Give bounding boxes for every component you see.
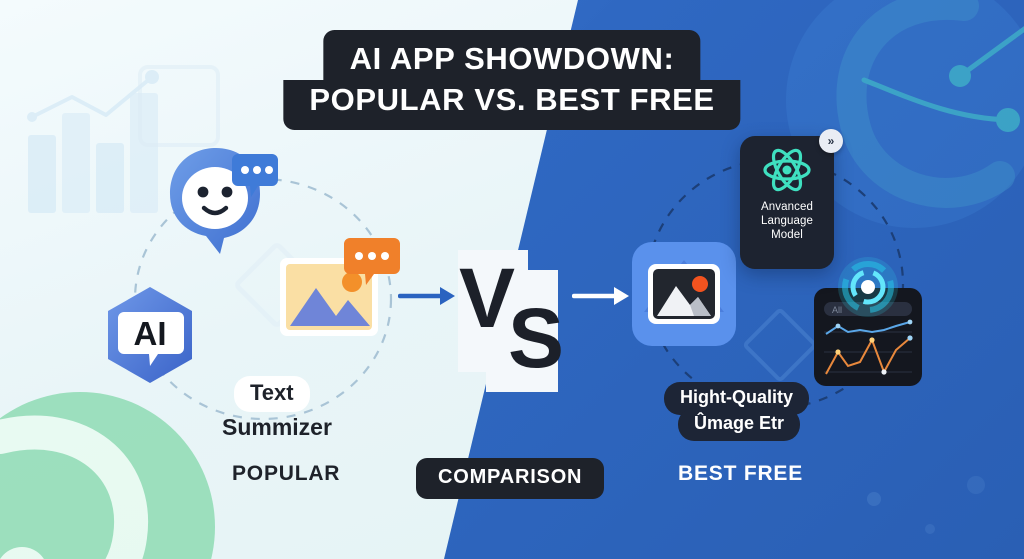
vs-badge: V S [458,250,566,392]
atom-icon [761,145,813,195]
vs-letter-v: V [459,256,515,340]
umage-etr-pill: Ûmage Etr [678,408,800,441]
footer-label-comparison: COMPARISON [416,458,604,499]
vs-letter-s: S [508,296,564,380]
image-icon[interactable] [632,242,736,346]
page-title: AI APP SHOWDOWN: POPULAR VS. BEST FREE [283,30,740,130]
footer-label-popular: POPULAR [232,462,340,486]
text-summizer-sub: Summizer [222,414,332,441]
diamond-outline-watermark [735,300,825,390]
alm-line-2: Language [761,214,813,228]
alm-line-1: Anvanced [761,200,813,214]
title-line-1: AI APP SHOWDOWN: [324,30,701,82]
ai-badge-text: AI [134,315,167,352]
footer-label-best-free: BEST FREE [678,462,803,486]
text-summizer-pill: Text [234,376,310,412]
arrow-right-icon [572,283,634,309]
dot-grid-watermark [844,429,1004,549]
image-icon[interactable] [278,238,400,344]
ai-hexagon-icon[interactable]: AI [100,284,200,384]
alm-line-3: Model [771,228,803,242]
chat-bot-icon[interactable] [158,142,278,260]
advanced-language-model-card[interactable]: Anvanced Language Model » [740,136,834,269]
chevron-right-icon[interactable]: » [819,129,843,153]
infographic-canvas: AI APP SHOWDOWN: POPULAR VS. BEST FREE A… [0,0,1024,559]
glow-ring-icon [836,255,900,319]
title-line-2: POPULAR VS. BEST FREE [283,80,740,130]
arrow-right-icon [398,283,460,309]
